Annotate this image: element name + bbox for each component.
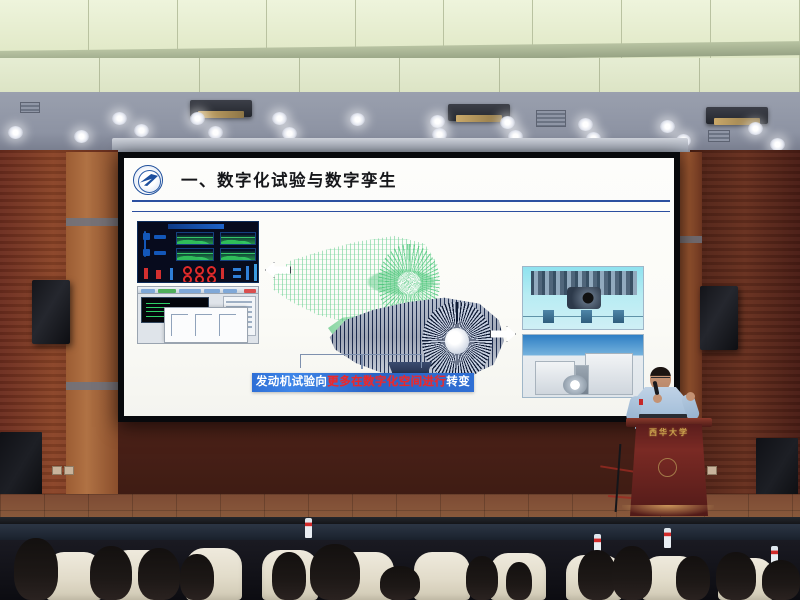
podium-floor-light: [622, 505, 714, 516]
scada-indicator: [233, 268, 241, 271]
rig-engine: [567, 287, 601, 309]
ceiling-downlight: [112, 112, 127, 125]
wall-power-outlet[interactable]: [52, 466, 62, 475]
podium-emblem-icon: [658, 458, 677, 477]
rig-support-stand: [581, 310, 592, 323]
banner-suffix: 转变: [446, 377, 470, 389]
simulation-software-window: [137, 286, 259, 344]
scada-indicator: [233, 275, 241, 278]
scada-gauge: [207, 266, 216, 275]
toolbar-button[interactable]: [244, 289, 256, 293]
audience-head: [762, 560, 800, 600]
toolbar-button[interactable]: [141, 289, 155, 293]
test-rig-photo: [522, 266, 644, 330]
speaker-hand-left: [653, 394, 662, 403]
banner-prefix: 发动机试验向: [256, 377, 327, 389]
scada-waveform-chart: [220, 248, 256, 261]
audience-head: [180, 554, 214, 600]
ceiling-downlight: [134, 124, 149, 137]
speaker-badge: [639, 399, 643, 405]
toolbar-button[interactable]: [223, 289, 237, 293]
toolbar-button[interactable]: [204, 289, 220, 293]
scada-schematic-icon: [144, 231, 146, 257]
waveform-line: [221, 253, 255, 254]
audience-head: [138, 548, 180, 600]
scada-gauge: [195, 275, 204, 283]
audience-head: [14, 538, 58, 600]
emblem-bird-glyph: [140, 174, 158, 186]
university-emblem-icon: [133, 165, 163, 195]
podium-university-name: 西华大学: [630, 427, 708, 438]
scada-schematic-icon: [154, 235, 166, 239]
dialog-diagram: [171, 314, 188, 336]
scada-waveform-chart: [220, 232, 256, 245]
wall-power-outlet[interactable]: [707, 466, 717, 475]
pillar-trim-band: [66, 218, 118, 226]
ceiling-projector: [706, 107, 768, 124]
scada-monitor-panel: [137, 221, 259, 283]
audience-head: [612, 546, 652, 600]
scada-schematic-icon: [154, 251, 166, 255]
ceiling-air-vent: [20, 102, 40, 113]
scada-indicator: [170, 268, 173, 280]
ceiling-downlight: [272, 112, 287, 125]
title-divider-thin: [132, 211, 670, 212]
slide-banner: 发动机试验向 更多在数字化空间进行 转变: [252, 373, 474, 392]
ceiling-downlight: [748, 122, 763, 135]
audience-head: [506, 562, 532, 600]
dialog-diagram: [219, 314, 236, 336]
facility-duct: [563, 375, 587, 395]
banner-highlight: 更多在数字化空间进行: [327, 377, 446, 389]
audience-head: [716, 552, 756, 600]
left-wall-pillar: [66, 152, 118, 512]
auditorium-seat: [414, 552, 470, 600]
wall-speaker-right: [700, 286, 738, 350]
presentation-slide: 一、数字化试验与数字孪生: [124, 158, 674, 416]
scada-indicator: [254, 264, 257, 281]
scada-title-bar: [168, 224, 224, 229]
ceiling-downlight: [190, 112, 205, 125]
scada-indicator: [246, 266, 249, 280]
engine-physical-fan: [422, 302, 492, 380]
scada-indicator: [221, 268, 224, 279]
waveform-line: [221, 237, 255, 238]
ceiling-downlight: [350, 113, 365, 126]
software-dialog: [164, 307, 248, 343]
audience-head: [676, 556, 710, 600]
ceiling-air-vent: [536, 110, 566, 127]
slide-title: 一、数字化试验与数字孪生: [181, 167, 397, 191]
waveform-line: [177, 237, 213, 238]
scada-indicator: [144, 268, 148, 279]
pillar-trim-band: [66, 382, 118, 390]
engine-brace-bracket: [300, 354, 422, 368]
toolbar-button[interactable]: [179, 289, 201, 293]
water-bottle: [664, 528, 671, 548]
ceiling-downlight: [8, 126, 23, 139]
test-facility-photo: [522, 334, 644, 398]
audience-head: [272, 552, 306, 600]
wall-power-outlet[interactable]: [64, 466, 74, 475]
projection-screen: 一、数字化试验与数字孪生: [118, 152, 680, 422]
toolbar-button[interactable]: [158, 289, 176, 293]
scada-indicator: [156, 270, 161, 279]
scada-waveform-chart: [176, 232, 214, 245]
lecture-hall-photo: 一、数字化试验与数字孪生: [0, 0, 800, 600]
title-divider-thick: [132, 200, 670, 202]
audience-head: [466, 556, 498, 600]
audience-head: [578, 550, 616, 600]
audience-head: [380, 566, 420, 600]
audience-head: [310, 544, 360, 600]
scada-gauge: [195, 266, 204, 275]
audience-head: [90, 546, 132, 600]
rig-support-stand: [543, 310, 554, 323]
speaker-glasses: [651, 377, 670, 380]
wall-speaker-left: [32, 280, 70, 344]
water-bottle: [305, 518, 312, 538]
dialog-diagram: [195, 314, 212, 336]
floor-speaker-left: [0, 432, 42, 502]
waveform-line: [177, 253, 213, 254]
facility-structure: [585, 353, 633, 395]
scada-gauge: [207, 275, 216, 283]
ceiling-downlight: [578, 118, 593, 131]
ceiling-downlight: [430, 115, 445, 128]
scada-gauge: [183, 266, 192, 275]
scada-waveform-chart: [176, 248, 214, 261]
table-row: [226, 301, 252, 303]
ceiling-downlight: [500, 116, 515, 129]
speaker-hand-right: [686, 392, 695, 401]
ceiling-downlight: [660, 120, 675, 133]
rig-support-stand: [613, 310, 624, 323]
ceiling-air-vent: [708, 130, 730, 142]
ceiling-downlight: [74, 130, 89, 143]
console-line: [146, 303, 170, 304]
scada-gauge: [183, 275, 192, 283]
console-line: [146, 311, 164, 312]
